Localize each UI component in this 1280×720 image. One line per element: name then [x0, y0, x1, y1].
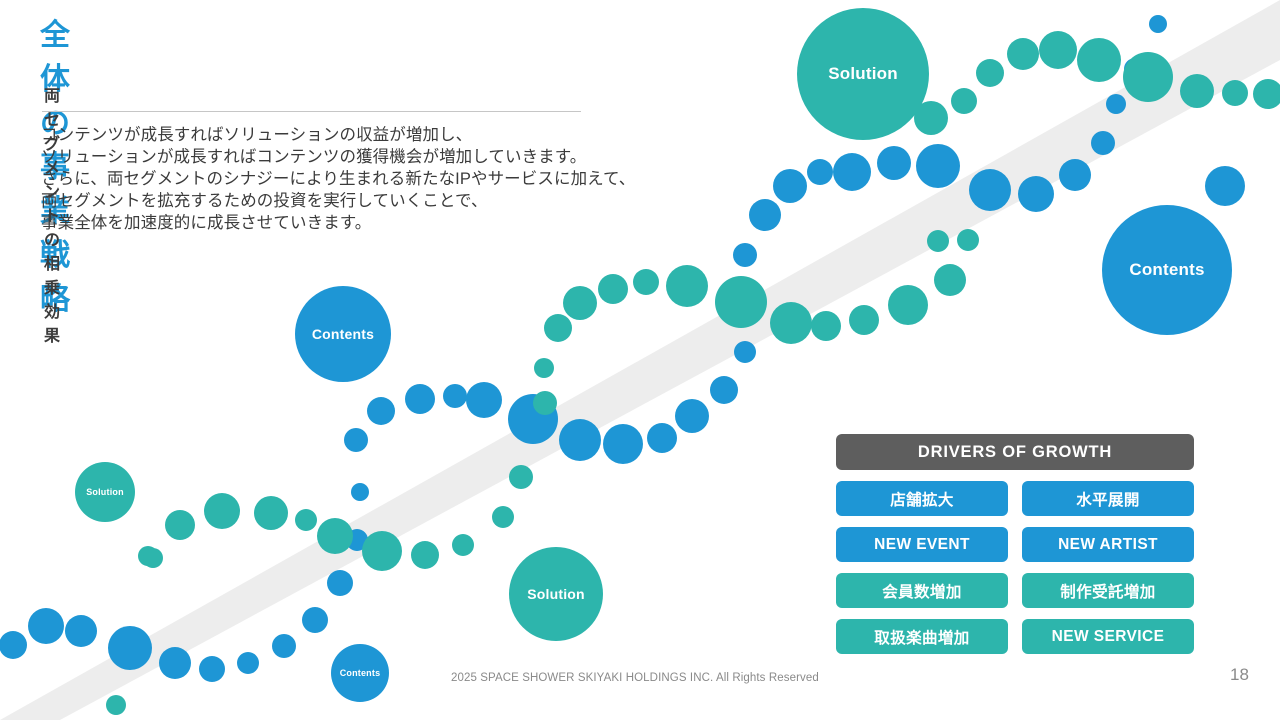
slide-canvas: SolutionContentsContentsSolutionSolution…	[0, 0, 1280, 720]
bubble-dot	[443, 384, 467, 408]
bubble-dot	[199, 656, 225, 682]
bubble-dot	[715, 276, 767, 328]
bubble-dot	[598, 274, 628, 304]
bubble-dot	[633, 269, 659, 295]
bubble-contents: Contents	[331, 644, 389, 702]
bubble-dot	[534, 358, 554, 378]
driver-button[interactable]: NEW EVENT	[836, 527, 1008, 562]
bubble-dot	[533, 391, 557, 415]
drivers-header: DRIVERS OF GROWTH	[836, 434, 1194, 470]
bubble-dot	[1007, 38, 1039, 70]
bubble-dot	[367, 397, 395, 425]
bubble-solution: Solution	[797, 8, 929, 140]
bubble-dot	[1091, 131, 1115, 155]
drivers-of-growth-panel: DRIVERS OF GROWTH 店舗拡大水平展開NEW EVENTNEW A…	[836, 434, 1194, 654]
bubble-contents: Contents	[1102, 205, 1232, 335]
bubble-dot	[773, 169, 807, 203]
bubble-dot	[666, 265, 708, 307]
bubble-dot	[1222, 80, 1248, 106]
bubble-dot	[544, 314, 572, 342]
bubble-dot	[302, 607, 328, 633]
bubble-dot	[563, 286, 597, 320]
bubble-dot	[1077, 38, 1121, 82]
bubble-dot	[0, 631, 27, 659]
bubble-dot	[143, 548, 163, 568]
bubble-dot	[1205, 166, 1245, 206]
bubble-dot	[603, 424, 643, 464]
bubble-dot	[1059, 159, 1091, 191]
bubble-dot	[405, 384, 435, 414]
body-line: 両セグメントを拡充するための投資を実行していくことで、	[41, 190, 635, 212]
bubble-dot	[710, 376, 738, 404]
bubble-dot	[927, 230, 949, 252]
subtitle-divider	[42, 111, 581, 112]
bubble-dot	[411, 541, 439, 569]
bubble-dot	[351, 483, 369, 501]
bubble-dot	[675, 399, 709, 433]
bubble-dot	[28, 608, 64, 644]
driver-button[interactable]: 取扱楽曲増加	[836, 619, 1008, 654]
bubble-dot	[327, 570, 353, 596]
driver-button[interactable]: 制作受託増加	[1022, 573, 1194, 608]
bubble-dot	[749, 199, 781, 231]
bubble-dot	[957, 229, 979, 251]
bubble-dot	[770, 302, 812, 344]
driver-button[interactable]: NEW ARTIST	[1022, 527, 1194, 562]
bubble-dot	[492, 506, 514, 528]
bubble-dot	[976, 59, 1004, 87]
bubble-dot	[914, 101, 948, 135]
bubble-dot	[647, 423, 677, 453]
bubble-dot	[65, 615, 97, 647]
bubble-solution: Solution	[509, 547, 603, 641]
bubble-dot	[1180, 74, 1214, 108]
body-line: さらに、両セグメントのシナジーにより生まれる新たなIPやサービスに加えて、	[41, 168, 635, 190]
bubble-dot	[254, 496, 288, 530]
bubble-dot	[969, 169, 1011, 211]
footer-copyright: 2025 SPACE SHOWER SKIYAKI HOLDINGS INC. …	[451, 672, 819, 684]
body-line: コンテンツが成長すればソリューションの収益が増加し、	[41, 124, 635, 146]
bubble-dot	[888, 285, 928, 325]
bubble-contents: Contents	[295, 286, 391, 382]
drivers-grid: 店舗拡大水平展開NEW EVENTNEW ARTIST会員数増加制作受託増加取扱…	[836, 481, 1194, 654]
bubble-dot	[362, 531, 402, 571]
bubble-dot	[1039, 31, 1077, 69]
bubble-dot	[295, 509, 317, 531]
bubble-dot	[559, 419, 601, 461]
bubble-dot	[951, 88, 977, 114]
body-line: 事業全体を加速度的に成長させていきます。	[41, 212, 635, 234]
bubble-solution: Solution	[75, 462, 135, 522]
bubble-dot	[317, 518, 353, 554]
bubble-dot	[344, 428, 368, 452]
driver-button[interactable]: NEW SERVICE	[1022, 619, 1194, 654]
bubble-dot	[1018, 176, 1054, 212]
bubble-dot	[159, 647, 191, 679]
driver-button[interactable]: 水平展開	[1022, 481, 1194, 516]
page-number: 18	[1230, 665, 1249, 685]
driver-button[interactable]: 店舗拡大	[836, 481, 1008, 516]
bubble-dot	[1253, 79, 1280, 109]
bubble-dot	[204, 493, 240, 529]
bubble-dot	[934, 264, 966, 296]
bubble-dot	[1123, 52, 1173, 102]
bubble-dot	[272, 634, 296, 658]
body-line: ソリューションが成長すればコンテンツの獲得機会が増加していきます。	[41, 146, 635, 168]
bubble-dot	[466, 382, 502, 418]
bubble-dot	[734, 341, 756, 363]
bubble-dot	[1149, 15, 1167, 33]
bubble-dot	[1106, 94, 1126, 114]
bubble-dot	[237, 652, 259, 674]
bubble-dot	[811, 311, 841, 341]
bubble-dot	[849, 305, 879, 335]
bubble-dot	[833, 153, 871, 191]
bubble-dot	[916, 144, 960, 188]
bubble-dot	[165, 510, 195, 540]
bubble-dot	[509, 465, 533, 489]
bubble-dot	[452, 534, 474, 556]
bubble-dot	[807, 159, 833, 185]
bubble-dot	[877, 146, 911, 180]
bubble-dot	[108, 626, 152, 670]
driver-button[interactable]: 会員数増加	[836, 573, 1008, 608]
body-copy: コンテンツが成長すればソリューションの収益が増加し、ソリューションが成長すればコ…	[41, 124, 635, 234]
bubble-dot	[733, 243, 757, 267]
bubble-dot	[106, 695, 126, 715]
